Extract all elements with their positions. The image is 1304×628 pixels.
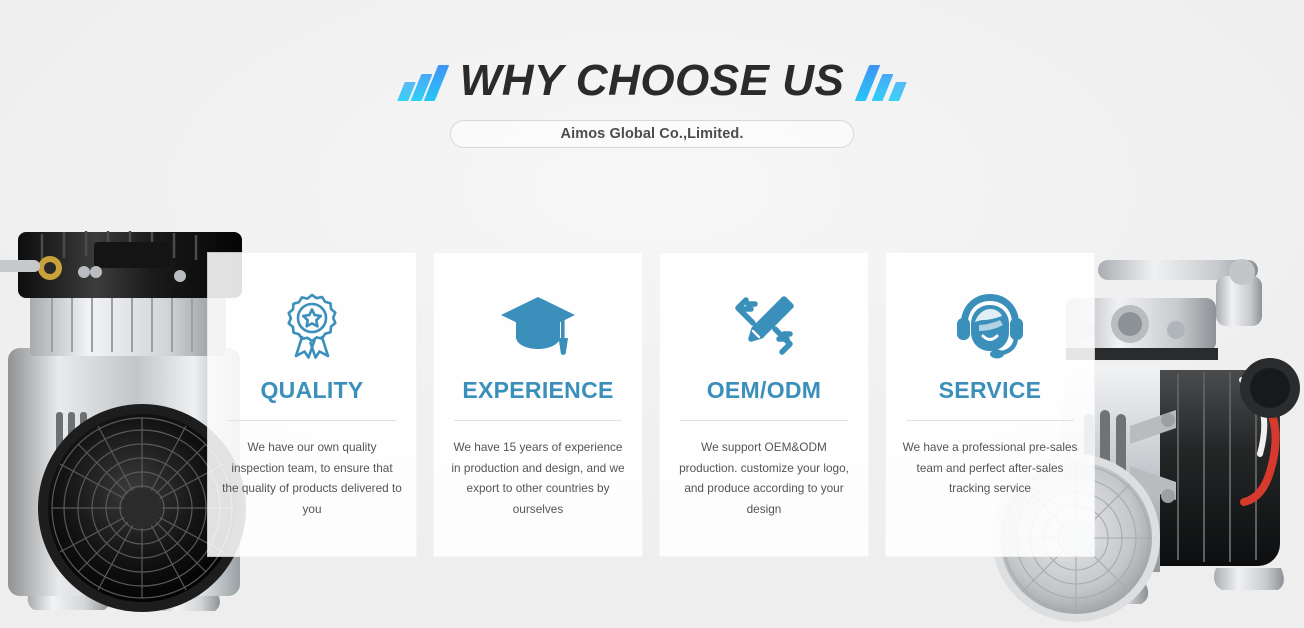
card-divider: [906, 420, 1074, 421]
headset-support-agent-icon: [955, 287, 1025, 365]
company-name: Aimos Global Co.,Limited.: [561, 126, 744, 142]
page-title: WHY CHOOSE US: [460, 56, 845, 106]
quality-badge-ribbon-icon: [282, 287, 342, 365]
pencil-ruler-icon: [729, 287, 799, 365]
feature-cards: QUALITY We have our own quality inspecti…: [208, 253, 1094, 556]
card-description: We have our own quality inspection team,…: [222, 437, 402, 520]
feature-card-experience[interactable]: EXPERIENCE We have 15 years of experienc…: [434, 253, 642, 556]
why-choose-us-section: WHY CHOOSE US Aimos Global Co.,Limited.: [0, 0, 1304, 628]
card-title: SERVICE: [939, 377, 1042, 404]
title-row: WHY CHOOSE US: [0, 56, 1304, 106]
graduation-cap-icon: [500, 287, 576, 365]
card-divider: [454, 420, 622, 421]
card-divider: [228, 420, 396, 421]
card-description: We support OEM&ODM production. customize…: [674, 437, 854, 520]
feature-card-oem-odm[interactable]: OEM/ODM We support OEM&ODM production. c…: [660, 253, 868, 556]
card-description: We have a professional pre-sales team an…: [900, 437, 1080, 499]
feature-card-quality[interactable]: QUALITY We have our own quality inspecti…: [208, 253, 416, 556]
section-header: WHY CHOOSE US Aimos Global Co.,Limited.: [0, 0, 1304, 148]
card-title: EXPERIENCE: [462, 377, 613, 404]
triple-slash-icon-right: [862, 61, 903, 101]
card-title: QUALITY: [260, 377, 363, 404]
card-title: OEM/ODM: [707, 377, 822, 404]
card-description: We have 15 years of experience in produc…: [448, 437, 628, 520]
feature-card-service[interactable]: SERVICE We have a professional pre-sales…: [886, 253, 1094, 556]
company-name-pill: Aimos Global Co.,Limited.: [450, 120, 854, 148]
triple-slash-icon-left: [401, 61, 442, 101]
card-divider: [680, 420, 848, 421]
